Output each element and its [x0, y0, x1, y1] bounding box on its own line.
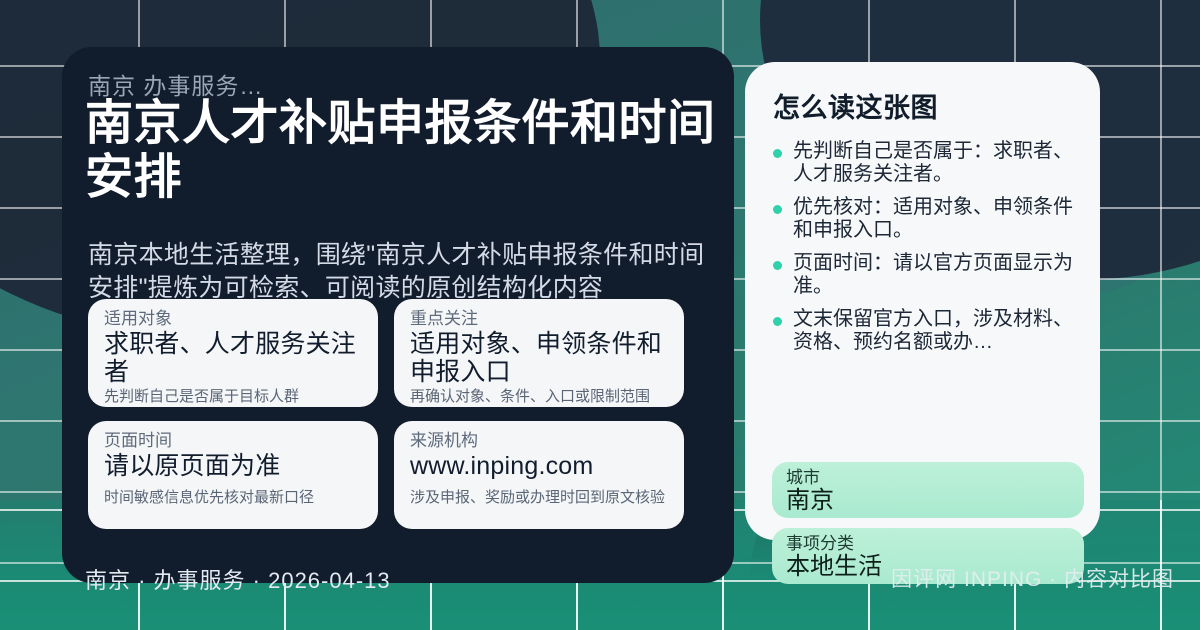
fact-card-label: 来源机构 — [410, 430, 668, 451]
footer-breadcrumb: 南京 · 办事服务 · 2026-04-13 — [85, 563, 391, 595]
list-item: 优先核对：适用对象、申领条件和申报入口。 — [771, 196, 1089, 252]
fact-card-value: www.inping.com — [410, 452, 668, 480]
fact-card-label: 适用对象 — [104, 308, 362, 329]
fact-card-value: 求职者、人才服务关注者 — [104, 330, 362, 386]
fact-card-note: 先判断自己是否属于目标人群 — [104, 388, 362, 406]
page-title: 南京人才补贴申报条件和时间安排 — [85, 97, 725, 205]
fact-card-label: 重点关注 — [410, 308, 668, 329]
fact-card: 重点关注 适用对象、申领条件和申报入口 再确认对象、条件、入口或限制范围 — [394, 299, 684, 407]
fact-card-note: 涉及申报、奖励或办理时回到原文核验 — [410, 489, 668, 507]
list-item: 页面时间：请以官方页面显示为准。 — [771, 252, 1089, 308]
side-panel-title: 怎么读这张图 — [773, 86, 938, 125]
fact-card: 适用对象 求职者、人才服务关注者 先判断自己是否属于目标人群 — [88, 299, 378, 407]
tips-list: 先判断自己是否属于：求职者、人才服务关注者。 优先核对：适用对象、申领条件和申报… — [771, 140, 1089, 364]
tip-text: 优先核对：适用对象、申领条件和申报入口。 — [793, 196, 1073, 241]
bullet-dot-icon — [773, 261, 782, 270]
footer-brand: 因评网 INPING · 内容对比图 — [891, 563, 1174, 593]
tip-text: 页面时间：请以官方页面显示为准。 — [793, 252, 1073, 297]
main-panel: 南京 办事服务… 南京人才补贴申报条件和时间安排 南京本地生活整理，围绕"南京人… — [62, 47, 734, 583]
fact-card-grid: 适用对象 求职者、人才服务关注者 先判断自己是否属于目标人群 重点关注 适用对象… — [88, 299, 708, 529]
bullet-dot-icon — [773, 317, 782, 326]
fact-card: 来源机构 www.inping.com 涉及申报、奖励或办理时回到原文核验 — [394, 421, 684, 529]
fact-card-label: 页面时间 — [104, 430, 362, 451]
fact-card-value: 请以原页面为准 — [104, 452, 362, 480]
fact-card-value: 适用对象、申领条件和申报入口 — [410, 330, 668, 386]
meta-chip-label: 事项分类 — [786, 534, 1070, 554]
meta-chip-city: 城市 南京 — [772, 462, 1084, 518]
eyebrow-label: 南京 办事服务… — [88, 67, 263, 101]
fact-card: 页面时间 请以原页面为准 时间敏感信息优先核对最新口径 — [88, 421, 378, 529]
bullet-dot-icon — [773, 149, 782, 158]
meta-chip-value: 南京 — [786, 488, 1070, 514]
page-subtitle: 南京本地生活整理，围绕"南京人才补贴申报条件和时间安排"提炼为可检索、可阅读的原… — [88, 239, 716, 306]
list-item: 文末保留官方入口，涉及材料、资格、预约名额或办… — [771, 308, 1089, 364]
fact-card-note: 时间敏感信息优先核对最新口径 — [104, 489, 362, 507]
list-item: 先判断自己是否属于：求职者、人才服务关注者。 — [771, 140, 1089, 196]
bullet-dot-icon — [773, 205, 782, 214]
fact-card-note: 再确认对象、条件、入口或限制范围 — [410, 388, 668, 406]
poster-canvas: 南京 办事服务… 南京人才补贴申报条件和时间安排 南京本地生活整理，围绕"南京人… — [0, 0, 1200, 630]
tip-text: 文末保留官方入口，涉及材料、资格、预约名额或办… — [793, 308, 1073, 353]
tip-text: 先判断自己是否属于：求职者、人才服务关注者。 — [793, 140, 1073, 185]
meta-chip-label: 城市 — [786, 468, 1070, 488]
